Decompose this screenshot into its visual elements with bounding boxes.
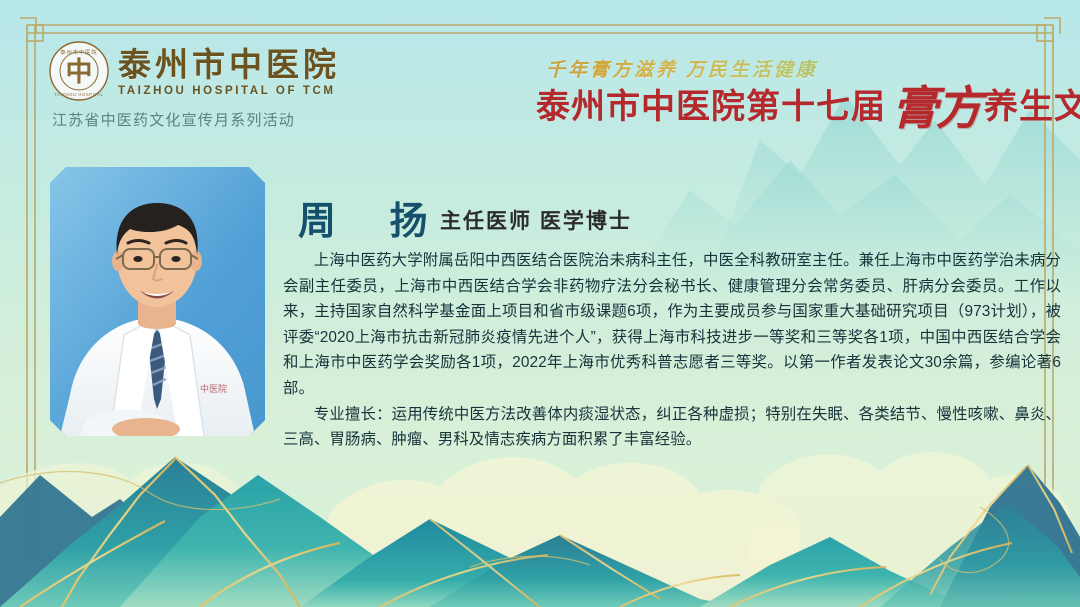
doctor-rank: 主任医师 医学博士	[440, 205, 632, 235]
svg-text:泰州市中医院: 泰州市中医院	[60, 48, 97, 56]
poster-canvas: 中 泰州市中医院 TAIZHOU HOSPITAL 泰州市中医院 TAIZHOU…	[0, 0, 1080, 607]
festival-title-part1: 泰州市中医院第十七届	[536, 91, 886, 125]
campaign-line: 江苏省中医药文化宣传月系列活动	[52, 109, 348, 130]
festival-title-block: 千年膏方滋养 万民生活健康 泰州市中医院第十七届 膏方 养生文化节	[536, 55, 1056, 125]
festival-title-calligraphy: 膏方	[892, 88, 980, 129]
chinese-ink-mountains-illustration	[0, 367, 1080, 607]
tcm-circular-seal-icon: 中 泰州市中医院 TAIZHOU HOSPITAL	[48, 40, 110, 102]
festival-title-part2: 养生文化节	[984, 91, 1080, 125]
hospital-name-cn: 泰州市中医院	[118, 49, 340, 84]
doctor-name: 周 扬	[298, 190, 450, 245]
festival-tagline: 千年膏方滋养 万民生活健康	[546, 55, 1056, 82]
hospital-logo-block: 中 泰州市中医院 TAIZHOU HOSPITAL 泰州市中医院 TAIZHOU…	[48, 40, 348, 130]
svg-text:中: 中	[66, 57, 93, 87]
svg-text:TAIZHOU HOSPITAL: TAIZHOU HOSPITAL	[54, 92, 103, 97]
hospital-name-en: TAIZHOU HOSPITAL OF TCM	[118, 85, 340, 97]
